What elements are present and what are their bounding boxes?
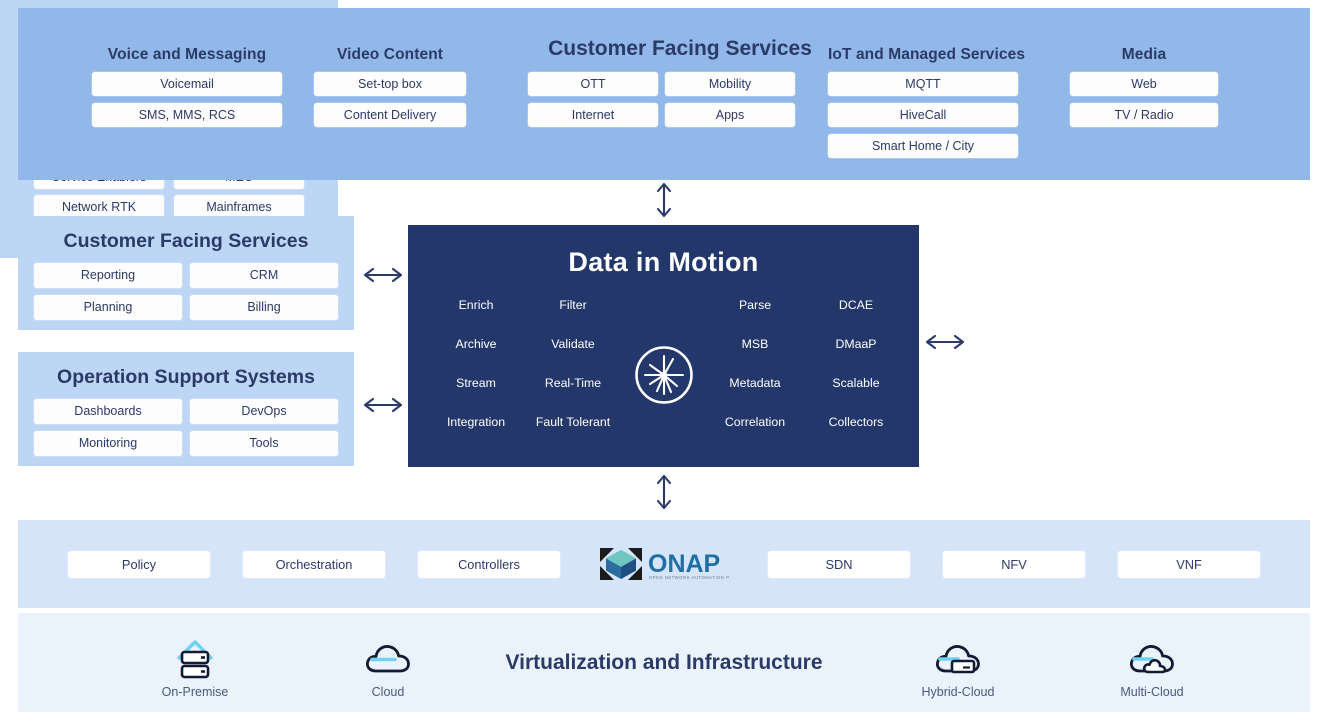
virt-item-label: On-Premise [120, 685, 270, 699]
diagram-canvas: Voice and Messaging Voicemail SMS, MMS, … [0, 0, 1320, 723]
virt-item-on-premise[interactable]: On-Premise [120, 633, 270, 699]
chip-internet[interactable]: Internet [528, 103, 658, 127]
chip-sms-mms-rcs[interactable]: SMS, MMS, RCS [92, 103, 282, 127]
cap-metadata: Metadata [729, 376, 780, 390]
horizontal-double-arrow-upper-left [360, 258, 406, 292]
group-media: Media Web TV / Radio [1070, 46, 1218, 134]
onap-logo-icon: ONAP OPEN NETWORK AUTOMATION PLATFORM [598, 544, 730, 584]
multi-cloud-icon [1077, 633, 1227, 681]
onap-wordmark: ONAP [648, 550, 720, 578]
vertical-double-arrow-top [645, 180, 683, 220]
onap-row: Policy Orchestration Controllers [18, 520, 1310, 608]
onap-logo: ONAP OPEN NETWORK AUTOMATION PLATFORM [593, 544, 735, 584]
cap-parse: Parse [739, 298, 771, 312]
center-column-left: OTT Internet [528, 72, 658, 134]
chip-planning[interactable]: Planning [34, 295, 182, 320]
center-column-right: Mobility Apps [665, 72, 795, 134]
chip-policy[interactable]: Policy [68, 551, 210, 578]
cap-archive: Archive [455, 337, 496, 351]
cap-validate: Validate [551, 337, 595, 351]
cap-real-time: Real-Time [545, 376, 601, 390]
panel-items: Reporting CRM Planning Billing [18, 263, 354, 320]
chip-voicemail[interactable]: Voicemail [92, 72, 282, 96]
chip-web[interactable]: Web [1070, 72, 1218, 96]
chip-billing[interactable]: Billing [190, 295, 338, 320]
cloud-icon [313, 633, 463, 681]
cap-dcae: DCAE [839, 298, 873, 312]
chip-dashboards[interactable]: Dashboards [34, 399, 182, 424]
cap-scalable: Scalable [832, 376, 879, 390]
cap-filter: Filter [559, 298, 586, 312]
onap-platform-band: Policy Orchestration Controllers [18, 520, 1310, 608]
group-video-content: Video Content Set-top box Content Delive… [314, 46, 466, 134]
virt-item-multi-cloud[interactable]: Multi-Cloud [1077, 633, 1227, 699]
virt-item-label: Hybrid-Cloud [883, 685, 1033, 699]
cap-fault-tolerant: Fault Tolerant [536, 415, 610, 429]
cap-dmaap: DMaaP [835, 337, 876, 351]
data-in-motion-box: Data in Motion Enrich Archive Stream Int… [408, 225, 919, 467]
cap-enrich: Enrich [459, 298, 494, 312]
chip-mqtt[interactable]: MQTT [828, 72, 1018, 96]
panel-title: Customer Facing Services [18, 230, 354, 253]
group-title: Media [1070, 46, 1218, 64]
onap-subtitle: OPEN NETWORK AUTOMATION PLATFORM [649, 575, 730, 580]
chip-nfv[interactable]: NFV [943, 551, 1085, 578]
virtualization-band: Virtualization and Infrastructure On-Pre… [18, 613, 1310, 712]
chip-controllers[interactable]: Controllers [418, 551, 560, 578]
vertical-double-arrow-bottom [645, 472, 683, 512]
chip-content-delivery[interactable]: Content Delivery [314, 103, 466, 127]
chip-smart-home-city[interactable]: Smart Home / City [828, 134, 1018, 158]
cap-correlation: Correlation [725, 415, 785, 429]
panel-customer-facing-services: Customer Facing Services Reporting CRM P… [18, 216, 354, 330]
virt-item-cloud[interactable]: Cloud [313, 633, 463, 699]
chip-devops[interactable]: DevOps [190, 399, 338, 424]
group-title: IoT and Managed Services [828, 46, 1018, 64]
chip-reporting[interactable]: Reporting [34, 263, 182, 288]
chip-crm[interactable]: CRM [190, 263, 338, 288]
cap-stream: Stream [456, 376, 496, 390]
server-stack-icon [120, 633, 270, 681]
chip-hivecall[interactable]: HiveCall [828, 103, 1018, 127]
chip-tv-radio[interactable]: TV / Radio [1070, 103, 1218, 127]
top-services-band: Voice and Messaging Voicemail SMS, MMS, … [18, 8, 1310, 180]
chip-orchestration[interactable]: Orchestration [243, 551, 385, 578]
cap-collectors: Collectors [829, 415, 884, 429]
cap-msb: MSB [742, 337, 769, 351]
horizontal-double-arrow-right [922, 325, 968, 359]
group-title: Video Content [314, 46, 466, 64]
top-band-center-title: Customer Facing Services [545, 37, 815, 61]
group-voice-and-messaging: Voice and Messaging Voicemail SMS, MMS, … [92, 46, 282, 134]
data-in-motion-title: Data in Motion [408, 247, 919, 278]
chip-sdn[interactable]: SDN [768, 551, 910, 578]
chip-tools[interactable]: Tools [190, 431, 338, 456]
group-title: Voice and Messaging [92, 46, 282, 64]
chip-mobility[interactable]: Mobility [665, 72, 795, 96]
virt-item-label: Multi-Cloud [1077, 685, 1227, 699]
group-iot-and-managed-services: IoT and Managed Services MQTT HiveCall S… [828, 46, 1018, 165]
chip-set-top-box[interactable]: Set-top box [314, 72, 466, 96]
virt-item-hybrid-cloud[interactable]: Hybrid-Cloud [883, 633, 1033, 699]
virt-item-label: Cloud [313, 685, 463, 699]
hybrid-cloud-icon [883, 633, 1033, 681]
chip-ott[interactable]: OTT [528, 72, 658, 96]
chip-monitoring[interactable]: Monitoring [34, 431, 182, 456]
horizontal-double-arrow-lower-left [360, 388, 406, 422]
panel-items: Dashboards DevOps Monitoring Tools [18, 399, 354, 456]
starburst-circle-icon [633, 344, 695, 406]
chip-vnf[interactable]: VNF [1118, 551, 1260, 578]
cap-integration: Integration [447, 415, 505, 429]
chip-apps[interactable]: Apps [665, 103, 795, 127]
panel-operation-support-systems: Operation Support Systems Dashboards Dev… [18, 352, 354, 466]
panel-title: Operation Support Systems [18, 366, 354, 389]
